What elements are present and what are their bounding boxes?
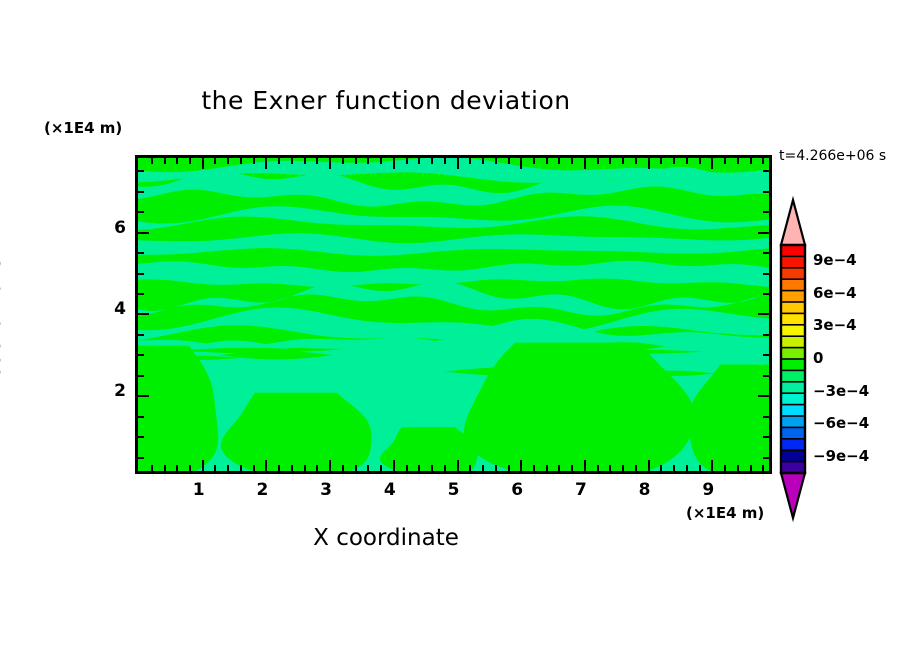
x-tick-bottom (520, 460, 522, 471)
x-tick-bottom (699, 465, 701, 471)
x-tick-bottom (571, 465, 573, 471)
x-tick-top (291, 158, 293, 164)
x-tick-top (571, 158, 573, 164)
y-tick-left (138, 375, 144, 377)
x-tick-top (431, 158, 433, 164)
contour-plot-area (135, 155, 772, 474)
y-tick-left (138, 313, 149, 315)
y-tick-left (138, 293, 144, 295)
x-tick-top (660, 158, 662, 164)
x-tick-bottom (189, 465, 191, 471)
x-tick-top (265, 158, 267, 169)
x-tick-top (482, 158, 484, 164)
y-tick-left (138, 211, 144, 213)
colorbar-tick-label: 9e−4 (813, 251, 857, 269)
y-tick-right (763, 457, 769, 459)
x-tick-label: 9 (693, 480, 723, 500)
x-tick-top (520, 158, 522, 169)
x-tick-bottom (558, 465, 560, 471)
colorbar-tick-label: 0 (813, 349, 823, 367)
x-tick-bottom (164, 465, 166, 471)
x-tick-top (214, 158, 216, 164)
y-tick-left (138, 354, 144, 356)
x-tick-top (444, 158, 446, 164)
x-tick-bottom (355, 465, 357, 471)
x-tick-top (724, 158, 726, 164)
x-tick-bottom (380, 465, 382, 471)
x-tick-bottom (469, 465, 471, 471)
x-tick-bottom (304, 465, 306, 471)
x-tick-top (253, 158, 255, 164)
colorbar-tick-label: −9e−4 (813, 447, 869, 465)
x-tick-label: 4 (375, 480, 405, 500)
y-tick-right (763, 416, 769, 418)
x-tick-top (278, 158, 280, 164)
y-tick-label: 2 (100, 381, 126, 401)
x-tick-top (342, 158, 344, 164)
x-tick-bottom (711, 460, 713, 471)
y-tick-right (763, 334, 769, 336)
x-tick-bottom (418, 465, 420, 471)
x-tick-label: 3 (311, 480, 341, 500)
page-title: the Exner function deviation (0, 86, 772, 115)
x-tick-top (622, 158, 624, 164)
y-tick-right (763, 252, 769, 254)
y-tick-right (758, 232, 769, 234)
y-tick-left (138, 191, 144, 193)
x-tick-bottom (762, 465, 764, 471)
x-axis-unit-label: (×1E4 m) (686, 504, 764, 522)
x-tick-bottom (265, 460, 267, 471)
y-tick-left (138, 416, 144, 418)
x-tick-bottom (724, 465, 726, 471)
x-tick-label: 1 (184, 480, 214, 500)
x-tick-top (418, 158, 420, 164)
y-tick-right (763, 436, 769, 438)
x-tick-bottom (393, 460, 395, 471)
x-tick-bottom (214, 465, 216, 471)
x-tick-top (673, 158, 675, 164)
colorbar-tick-label: 3e−4 (813, 316, 857, 334)
y-tick-left (138, 170, 144, 172)
y-tick-right (763, 191, 769, 193)
x-tick-top (737, 158, 739, 164)
x-tick-label: 5 (439, 480, 469, 500)
y-tick-left (138, 334, 144, 336)
x-tick-top (457, 158, 459, 169)
x-tick-bottom (686, 465, 688, 471)
x-axis-title: X coordinate (0, 525, 772, 551)
x-tick-bottom (584, 460, 586, 471)
x-tick-top (202, 158, 204, 169)
x-tick-label: 2 (247, 480, 277, 500)
x-tick-top (367, 158, 369, 164)
x-tick-top (711, 158, 713, 169)
x-tick-bottom (660, 465, 662, 471)
x-tick-top (495, 158, 497, 164)
colorbar-tick-label: 6e−4 (813, 284, 857, 302)
colorbar-tick-label: −6e−4 (813, 414, 869, 432)
x-tick-top (584, 158, 586, 169)
time-annotation: t=4.266e+06 s (779, 148, 886, 164)
y-tick-right (763, 273, 769, 275)
x-tick-top (380, 158, 382, 164)
y-tick-right (763, 211, 769, 213)
x-tick-label: 8 (630, 480, 660, 500)
x-tick-bottom (737, 465, 739, 471)
x-tick-bottom (291, 465, 293, 471)
x-tick-bottom (329, 460, 331, 471)
x-tick-bottom (202, 460, 204, 471)
x-tick-bottom (609, 465, 611, 471)
x-tick-bottom (444, 465, 446, 471)
x-tick-bottom (367, 465, 369, 471)
x-tick-top (750, 158, 752, 164)
x-tick-top (329, 158, 331, 169)
y-tick-right (763, 293, 769, 295)
x-tick-top (240, 158, 242, 164)
x-tick-top (533, 158, 535, 164)
x-tick-bottom (151, 465, 153, 471)
x-tick-label: 7 (566, 480, 596, 500)
x-tick-top (635, 158, 637, 164)
y-tick-left (138, 273, 144, 275)
x-tick-top (164, 158, 166, 164)
x-tick-bottom (635, 465, 637, 471)
y-tick-left (138, 252, 144, 254)
x-tick-bottom (240, 465, 242, 471)
y-tick-right (758, 395, 769, 397)
x-tick-label: 6 (502, 480, 532, 500)
x-tick-bottom (597, 465, 599, 471)
x-tick-bottom (482, 465, 484, 471)
y-tick-right (758, 313, 769, 315)
x-tick-top (597, 158, 599, 164)
x-tick-top (558, 158, 560, 164)
x-tick-top (227, 158, 229, 164)
x-tick-bottom (546, 465, 548, 471)
x-tick-top (762, 158, 764, 164)
x-tick-top (609, 158, 611, 164)
x-tick-top (393, 158, 395, 169)
x-tick-bottom (457, 460, 459, 471)
x-tick-top (406, 158, 408, 164)
z-axis-title: Z coordinate (0, 230, 6, 430)
colorbar-tick-label: −3e−4 (813, 382, 869, 400)
x-tick-top (151, 158, 153, 164)
x-tick-top (189, 158, 191, 164)
y-tick-right (763, 170, 769, 172)
x-tick-bottom (227, 465, 229, 471)
x-tick-top (355, 158, 357, 164)
x-tick-top (686, 158, 688, 164)
x-tick-bottom (431, 465, 433, 471)
x-tick-top (469, 158, 471, 164)
x-tick-bottom (508, 465, 510, 471)
x-tick-top (508, 158, 510, 164)
colorbar-gradient (781, 200, 805, 518)
colorbar (781, 200, 805, 518)
x-tick-top (699, 158, 701, 164)
x-tick-top (648, 158, 650, 169)
x-tick-top (304, 158, 306, 164)
x-tick-bottom (533, 465, 535, 471)
x-tick-bottom (622, 465, 624, 471)
y-tick-label: 4 (100, 299, 126, 319)
x-tick-bottom (750, 465, 752, 471)
y-tick-left (138, 436, 144, 438)
x-tick-bottom (253, 465, 255, 471)
y-tick-left (138, 395, 149, 397)
y-tick-label: 6 (100, 218, 126, 238)
y-tick-right (763, 375, 769, 377)
y-axis-unit-label: (×1E4 m) (44, 119, 122, 137)
x-tick-bottom (342, 465, 344, 471)
x-tick-bottom (406, 465, 408, 471)
x-tick-bottom (278, 465, 280, 471)
y-tick-left (138, 457, 144, 459)
x-tick-bottom (648, 460, 650, 471)
x-tick-top (176, 158, 178, 164)
x-tick-bottom (673, 465, 675, 471)
x-tick-bottom (176, 465, 178, 471)
y-tick-left (138, 232, 149, 234)
contour-field (138, 158, 769, 471)
x-tick-top (316, 158, 318, 164)
y-tick-right (763, 354, 769, 356)
x-tick-bottom (316, 465, 318, 471)
x-tick-top (546, 158, 548, 164)
x-tick-bottom (495, 465, 497, 471)
